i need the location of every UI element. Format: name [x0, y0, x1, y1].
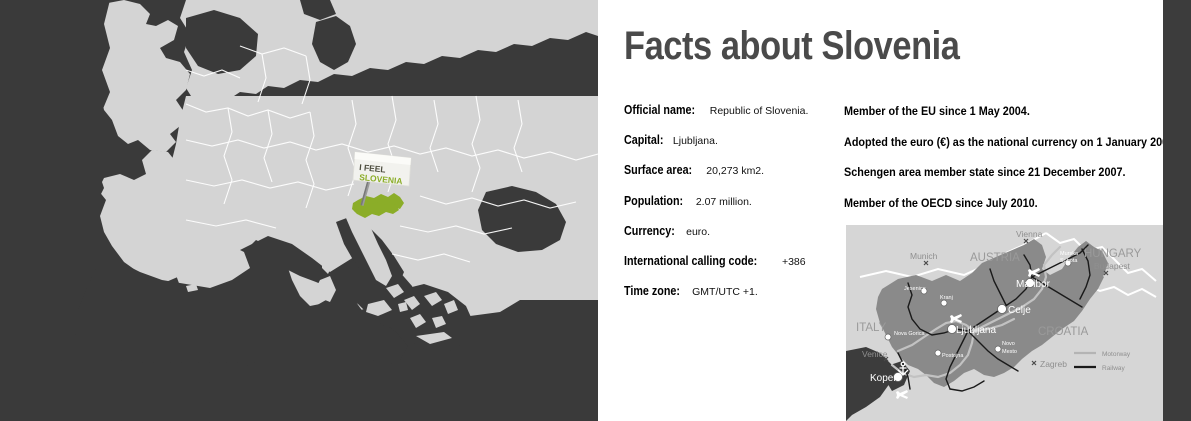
fact-row: Capital: Ljubljana.: [624, 134, 824, 148]
membership-item: Adopted the euro (€) as the national cur…: [844, 135, 1117, 149]
city-dot-nova-gorica: [885, 334, 891, 340]
fact-value: 2.07 million.: [696, 196, 752, 208]
europe-map: I FEEL SLOVENIA: [0, 0, 598, 421]
label-nova-gorica: Nova Gorica: [894, 331, 926, 337]
fact-label: Surface area:: [624, 164, 692, 177]
content-panel: Facts about Slovenia Official name: Repu…: [598, 0, 1163, 421]
legend-label-motorway: Motorway: [1102, 351, 1131, 358]
facts-about-slovenia-page: I FEEL SLOVENIA Facts about Slovenia Off…: [0, 0, 1191, 421]
country-label-croatia: CROATIA: [1038, 326, 1089, 338]
fact-label: Population:: [624, 195, 683, 208]
slovenia-inset-map: ITALY AUSTRIA HUNGARY CROATIA Munich Vie…: [846, 225, 1163, 421]
label-vienna: Vienna: [1016, 229, 1043, 239]
fact-label: Time zone:: [624, 285, 680, 298]
label-koper: Koper: [870, 373, 897, 384]
membership-list: Member of the EU since 1 May 2004. Adopt…: [844, 104, 1154, 226]
label-novo-mesto: Novo: [1002, 341, 1015, 347]
fact-label: Currency:: [624, 225, 675, 238]
fact-label: Capital:: [624, 134, 663, 147]
label-murska: Murska: [1060, 251, 1079, 257]
label-maribor: Maribor: [1016, 279, 1051, 290]
right-edge-bar: [1163, 0, 1191, 421]
city-dot-postojna: [935, 350, 941, 356]
fact-row: Surface area: 20,273 km2.: [624, 164, 824, 178]
label-postojna: Postojna: [942, 353, 964, 359]
fact-row: Official name: Republic of Slovenia.: [624, 104, 824, 118]
fact-row: International calling code: +386: [624, 255, 824, 269]
label-ljubljana: Ljubljana: [956, 325, 996, 336]
fact-label: International calling code:: [624, 255, 757, 268]
fact-value: Ljubljana.: [673, 135, 718, 147]
label-zagreb: Zagreb: [1040, 359, 1067, 369]
fact-value: Republic of Slovenia.: [710, 105, 809, 117]
country-label-italy: ITALY: [856, 322, 887, 334]
city-dot-celje: [998, 305, 1007, 314]
country-label-hungary: HUNGARY: [1084, 248, 1142, 260]
label-kranj: Kranj: [940, 295, 953, 301]
fact-row: Currency: euro.: [624, 225, 824, 239]
fact-value: +386: [782, 256, 806, 268]
label-celje: Celje: [1008, 305, 1031, 316]
fact-value: GMT/UTC +1.: [692, 286, 758, 298]
country-label-austria: AUSTRIA: [970, 252, 1020, 264]
facts-list: Official name: Republic of Slovenia. Cap…: [624, 104, 824, 315]
i-feel-slovenia-sign: I FEEL SLOVENIA: [353, 152, 411, 186]
membership-item: Member of the OECD since July 2010.: [844, 196, 1117, 210]
label-mesto: Mesto: [1002, 349, 1017, 355]
membership-item: Member of the EU since 1 May 2004.: [844, 104, 1117, 118]
legend-label-railway: Railway: [1102, 365, 1126, 372]
membership-item: Schengen area member state since 21 Dece…: [844, 165, 1117, 179]
fact-row: Population: 2.07 million.: [624, 195, 824, 209]
label-sobota: Sobota: [1060, 258, 1078, 264]
page-title: Facts about Slovenia: [624, 24, 959, 68]
label-venice: Venice: [862, 349, 888, 359]
label-jesenice: Jesenice: [904, 286, 926, 292]
label-munich: Munich: [910, 251, 938, 261]
fact-value: 20,273 km2.: [706, 165, 764, 177]
city-dot-novo-mesto: [995, 346, 1001, 352]
fact-value: euro.: [686, 226, 710, 238]
label-budapest: Budapest: [1094, 261, 1131, 271]
fact-row: Time zone: GMT/UTC +1.: [624, 285, 824, 299]
fact-label: Official name:: [624, 104, 695, 117]
